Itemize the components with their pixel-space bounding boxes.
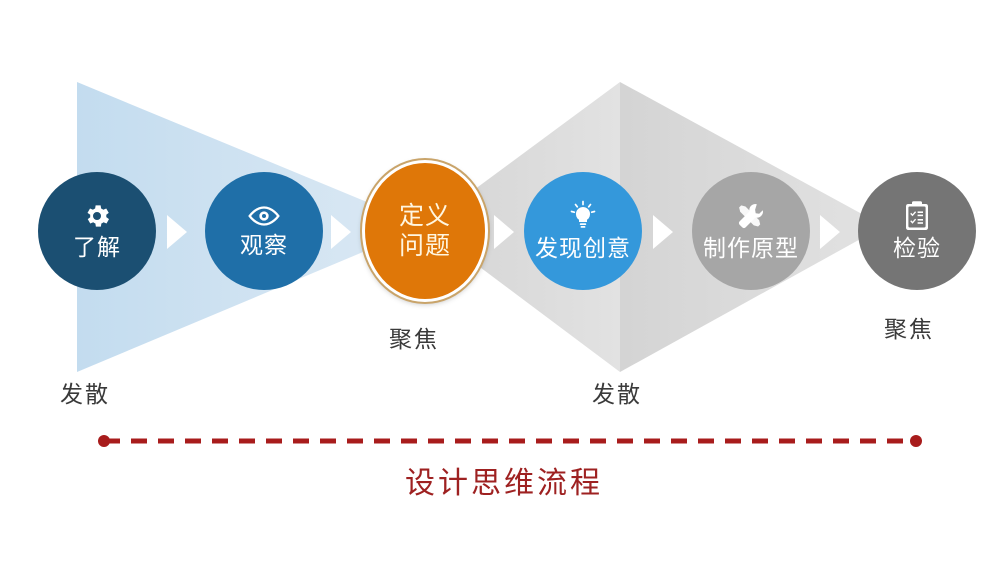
lightbulb-icon [567,200,599,232]
arrow-observe-to-define [331,215,351,249]
node-test-label: 检验 [893,236,941,262]
node-prototype-label: 制作原型 [703,236,799,262]
rule-endpoint-right [910,435,922,447]
tools-icon [735,200,767,232]
node-define[interactable]: 定义 问题 [362,160,488,302]
arrow-prototype-to-test [820,215,840,249]
process-span-rule [0,428,1008,454]
arrow-ideate-to-prototype [653,215,673,249]
node-understand[interactable]: 了解 [38,172,156,290]
diagram-title: 设计思维流程 [0,458,1008,502]
node-ideate-label: 发现创意 [535,236,631,262]
arrow-define-to-ideate [494,215,514,249]
caption-diverge-1: 发散 [60,375,110,409]
gear-icon [82,201,112,231]
node-understand-label: 了解 [73,235,121,261]
eye-icon [247,203,281,229]
caption-converge-2: 聚焦 [884,310,934,344]
rule-endpoint-left [98,435,110,447]
caption-diverge-2: 发散 [592,375,642,409]
caption-converge-1: 聚焦 [389,320,439,354]
node-define-label: 定义 问题 [399,201,451,261]
node-prototype[interactable]: 制作原型 [692,172,810,290]
node-test[interactable]: 检验 [858,172,976,290]
clipboard-check-icon [903,200,931,232]
design-thinking-diagram: 了解 观察 定义 问题 [0,0,1008,567]
node-observe-label: 观察 [240,233,288,259]
arrow-understand-to-observe [167,215,187,249]
node-observe[interactable]: 观察 [205,172,323,290]
node-ideate[interactable]: 发现创意 [524,172,642,290]
